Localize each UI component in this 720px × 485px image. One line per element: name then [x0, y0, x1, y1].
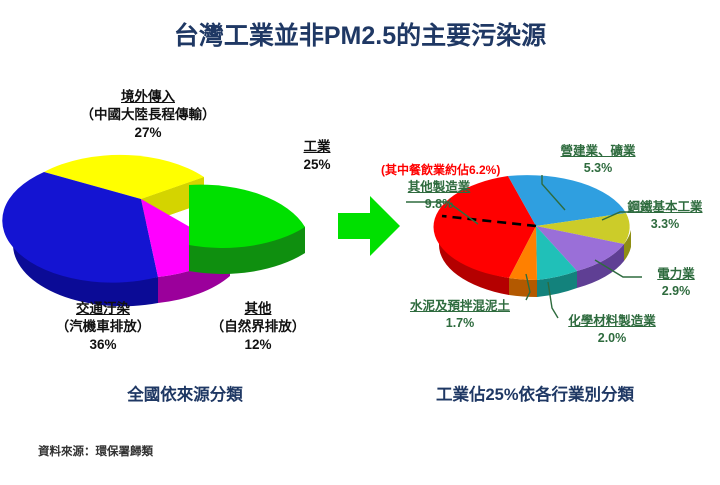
label-traffic: 交通汙染 （汽機車排放） 36% [28, 300, 178, 353]
label-steel: 鋼鐵基本工業 3.3% [613, 199, 717, 232]
label-chemical-name: 化學材料製造業 [550, 313, 674, 330]
label-industry-pct: 25% [272, 156, 362, 174]
label-import-sub: （中國大陸長程傳輸） [48, 106, 248, 124]
restaurant-share-annotation: (其中餐飲業約佔6.2%) [381, 161, 500, 178]
label-cement: 水泥及預拌混泥土 1.7% [392, 298, 528, 331]
label-other-pct: 12% [188, 336, 328, 354]
label-construction-mining-pct: 5.3% [537, 160, 659, 177]
label-other-mfg: 其他製造業 9.8% [385, 179, 493, 212]
label-import-name: 境外傳入 [48, 88, 248, 106]
label-steel-name: 鋼鐵基本工業 [613, 199, 717, 216]
right-chart-caption: 工業佔25%依各行業別分類 [405, 381, 665, 405]
left-chart-caption: 全國依來源分類 [60, 381, 310, 405]
slide-canvas: 台灣工業並非PM2.5的主要污染源 境外傳入 （中國大陸 [0, 0, 720, 485]
label-chemical-pct: 2.0% [550, 330, 674, 347]
label-cement-pct: 1.7% [392, 315, 528, 332]
leader-power [595, 260, 642, 277]
label-cement-name: 水泥及預拌混泥土 [392, 298, 528, 315]
label-steel-pct: 3.3% [613, 216, 717, 233]
pie-slice-industry-exploded [189, 185, 305, 274]
label-import: 境外傳入 （中國大陸長程傳輸） 27% [48, 88, 248, 141]
label-other-name: 其他 [188, 300, 328, 318]
label-industry-name: 工業 [272, 138, 362, 156]
leader-construction [542, 175, 565, 210]
label-import-pct: 27% [48, 124, 248, 142]
label-other-sub: （自然界排放） [188, 318, 328, 336]
label-other: 其他 （自然界排放） 12% [188, 300, 328, 353]
label-chemical: 化學材料製造業 2.0% [550, 313, 674, 346]
label-power-pct: 2.9% [641, 283, 711, 300]
label-traffic-pct: 36% [28, 336, 178, 354]
leader-cement [526, 274, 530, 300]
label-traffic-name: 交通汙染 [28, 300, 178, 318]
label-other-mfg-name: 其他製造業 [385, 179, 493, 196]
label-construction-mining: 營建業、礦業 5.3% [537, 143, 659, 176]
label-power: 電力業 2.9% [641, 266, 711, 299]
label-power-name: 電力業 [641, 266, 711, 283]
label-construction-mining-name: 營建業、礦業 [537, 143, 659, 160]
label-industry: 工業 25% [272, 138, 362, 174]
source-note: 資料來源：環保署歸類 [38, 443, 153, 459]
label-traffic-sub: （汽機車排放） [28, 318, 178, 336]
label-other-mfg-pct: 9.8% [385, 196, 493, 213]
page-title: 台灣工業並非PM2.5的主要污染源 [0, 16, 720, 52]
